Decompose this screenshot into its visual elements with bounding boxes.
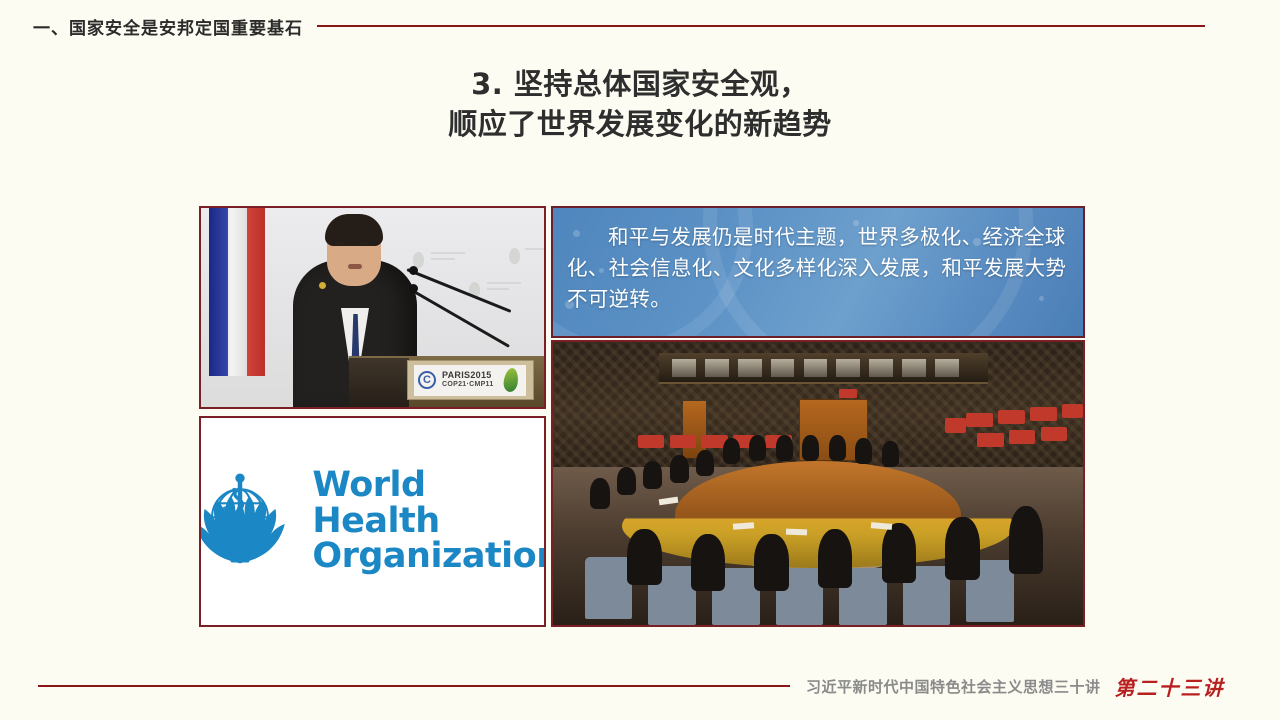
booth-window-3	[738, 359, 762, 378]
who-logo-panel: World Health Organization	[199, 416, 546, 627]
backdrop-text-5	[525, 248, 545, 250]
podium-sign: C PARIS2015 COP21·CMP11	[407, 360, 534, 400]
delegate-6	[855, 438, 872, 463]
backdrop-text-4	[487, 288, 509, 290]
booth-window-4	[771, 359, 795, 378]
footer-divider	[38, 685, 790, 687]
table-document-2	[786, 528, 807, 534]
quote-text: 和平与发展仍是时代主题，世界多极化、经济全球化、社会信息化、文化多样化深入发展，…	[567, 222, 1069, 315]
quote-callout: 和平与发展仍是时代主题，世界多极化、经济全球化、社会信息化、文化多样化深入发展，…	[551, 206, 1085, 338]
delegate-3	[776, 435, 793, 460]
booth-window-8	[902, 359, 926, 378]
gallery-seat-6	[1009, 430, 1036, 444]
booth-window-1	[672, 359, 696, 378]
foreground-attendee-3	[754, 534, 788, 591]
gallery-seat-3	[1030, 407, 1057, 421]
speaker-mouth	[348, 264, 362, 269]
delegate-2	[749, 435, 766, 460]
speaker-hair	[325, 214, 383, 246]
delegate-9	[643, 461, 662, 489]
podium-sign-line-1: PARIS2015	[442, 370, 492, 380]
speaker-eye-left	[336, 242, 345, 245]
foreground-chair-1	[585, 557, 633, 619]
footer-series-title: 习近平新时代中国特色社会主义思想三十讲	[806, 676, 1101, 697]
backdrop-text-1	[431, 252, 465, 254]
podium-sign-line-2: COP21·CMP11	[442, 381, 494, 388]
foreground-attendee-7	[1009, 506, 1043, 574]
page-title: 3. 坚持总体国家安全观， 顺应了世界发展变化的新趋势	[0, 64, 1280, 144]
lapel-pin-icon	[319, 282, 326, 289]
backdrop-text-3	[487, 282, 521, 284]
foreground-attendee-2	[691, 534, 725, 591]
un-security-council-photo	[551, 340, 1085, 627]
un-interpreter-booths	[659, 353, 988, 384]
foreground-attendee-4	[818, 529, 852, 588]
exit-sign-icon	[839, 389, 857, 398]
page-title-line-1: 3. 坚持总体国家安全观，	[0, 64, 1280, 104]
delegate-12	[590, 478, 610, 509]
microphone-head-1	[409, 266, 418, 275]
page-title-line-2: 顺应了世界发展变化的新趋势	[0, 104, 1280, 144]
gallery-seat-5	[977, 433, 1004, 447]
slide-footer: 习近平新时代中国特色社会主义思想三十讲 第二十三讲	[0, 670, 1280, 702]
gallery-seat-4	[1062, 404, 1083, 418]
delegate-1	[723, 438, 740, 463]
foreground-attendee-5	[882, 523, 916, 582]
gallery-seat-2	[998, 410, 1025, 424]
speaker-eye-right	[359, 242, 368, 245]
section-label: 一、国家安全是安邦定国重要基石	[33, 14, 303, 39]
who-emblem-icon	[199, 466, 296, 578]
booth-window-7	[869, 359, 893, 378]
who-logo: World Health Organization	[201, 418, 544, 625]
delegate-4	[802, 435, 819, 460]
podium-front-face	[349, 358, 409, 409]
booth-window-2	[705, 359, 729, 378]
who-wordmark-line-2: Organization	[312, 539, 546, 575]
booth-window-9	[935, 359, 959, 378]
backdrop-leaf-icon-3	[509, 248, 520, 264]
delegate-11	[696, 450, 714, 477]
gallery-seat-10	[670, 435, 697, 448]
delegate-8	[617, 467, 636, 495]
gallery-seat-9	[638, 435, 665, 448]
who-wordmark-line-1: World Health	[312, 468, 546, 539]
cop21-logo-icon: C	[418, 371, 436, 389]
backdrop-text-2	[431, 258, 455, 260]
foreground-attendee-6	[945, 517, 979, 579]
flag-fold-shading	[209, 208, 265, 376]
foreground-attendee-1	[627, 529, 661, 586]
who-wordmark: World Health Organization	[312, 468, 546, 575]
gallery-seat-1	[966, 413, 993, 427]
france-flag	[209, 208, 265, 376]
delegate-5	[829, 435, 846, 460]
booth-window-5	[804, 359, 828, 378]
slide-header: 一、国家安全是安邦定国重要基石	[0, 12, 1280, 40]
booth-window-6	[836, 359, 860, 378]
delegate-7	[882, 441, 899, 466]
footer-lecture-badge: 第二十三讲	[1115, 672, 1225, 701]
delegate-10	[670, 455, 689, 483]
gallery-seat-8	[945, 418, 966, 432]
slide-root: 一、国家安全是安邦定国重要基石 3. 坚持总体国家安全观， 顺应了世界发展变化的…	[0, 0, 1280, 720]
xi-jinping-cop21-photo: C PARIS2015 COP21·CMP11	[199, 206, 546, 409]
microphone-head-2	[409, 284, 418, 293]
header-divider	[317, 25, 1205, 27]
gallery-seat-7	[1041, 427, 1068, 441]
